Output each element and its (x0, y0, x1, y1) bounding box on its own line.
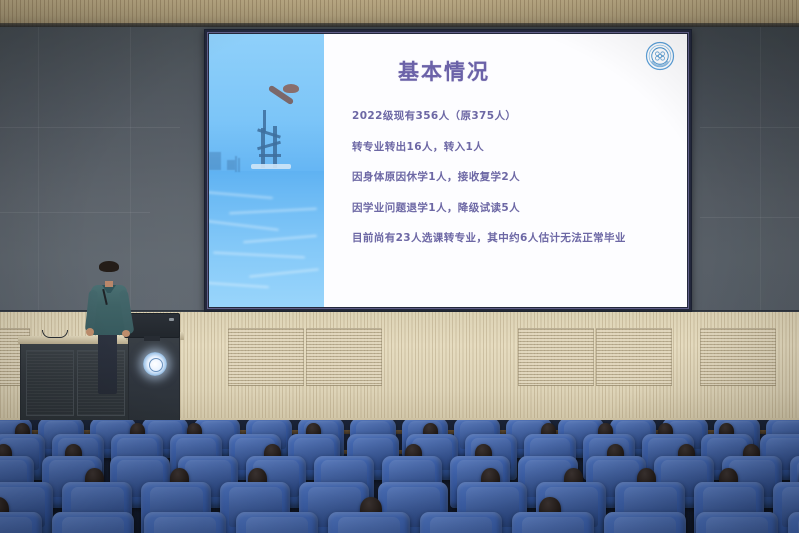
auditorium-seat[interactable] (420, 512, 502, 533)
auditorium-seat[interactable] (144, 512, 226, 533)
university-emblem-podium (143, 352, 167, 376)
auditorium-seat[interactable] (0, 512, 42, 533)
auditorium-seat[interactable] (604, 512, 686, 533)
slide-line: 目前尚有23人选课转专业，其中约6人估计无法正常毕业 (352, 230, 671, 245)
audience-seating (0, 420, 799, 533)
auditorium-seat[interactable] (52, 512, 134, 533)
pumpjack-silhouette (243, 82, 301, 168)
auditorium-seat[interactable] (236, 512, 318, 533)
slide-bullet-list: 2022级现有356人（原375人） 转专业转出16人，转入1人 因身体原因休学… (352, 108, 671, 245)
auditorium-seat[interactable] (512, 512, 594, 533)
slide-content-area: 基本情况 2022级现有356人（原375人） 转专业转出16人，转入1人 因身… (324, 34, 687, 307)
podium (128, 330, 180, 424)
auditorium-seat[interactable] (328, 512, 410, 533)
acoustic-grille-panel (518, 328, 594, 386)
acoustic-grille-panel (306, 328, 382, 386)
slide-line: 因学业问题退学1人，降级试读5人 (352, 200, 671, 215)
cable-loop (42, 330, 68, 338)
acoustic-grille-panel (596, 328, 672, 386)
slide-photo-pumpjack (209, 34, 324, 307)
slide-line: 转专业转出16人，转入1人 (352, 139, 671, 154)
presentation-slide: 基本情况 2022级现有356人（原375人） 转专业转出16人，转入1人 因身… (209, 34, 687, 307)
slide-title: 基本情况 (398, 56, 671, 86)
acoustic-grille-panel (228, 328, 304, 386)
acoustic-grille-panel (700, 328, 776, 386)
projection-screen[interactable]: 基本情况 2022级现有356人（原375人） 转专业转出16人，转入1人 因身… (204, 29, 692, 312)
auditorium-seat[interactable] (696, 512, 778, 533)
monitor-stand (144, 336, 160, 341)
presenter-at-lectern (86, 262, 132, 424)
auditorium-scene: 基本情况 2022级现有356人（原375人） 转专业转出16人，转入1人 因身… (0, 0, 799, 533)
slide-line: 2022级现有356人（原375人） (352, 108, 671, 123)
auditorium-seat[interactable] (788, 512, 799, 533)
slide-line: 因身体原因休学1人，接收复学2人 (352, 169, 671, 184)
university-seal-logo (645, 41, 675, 71)
